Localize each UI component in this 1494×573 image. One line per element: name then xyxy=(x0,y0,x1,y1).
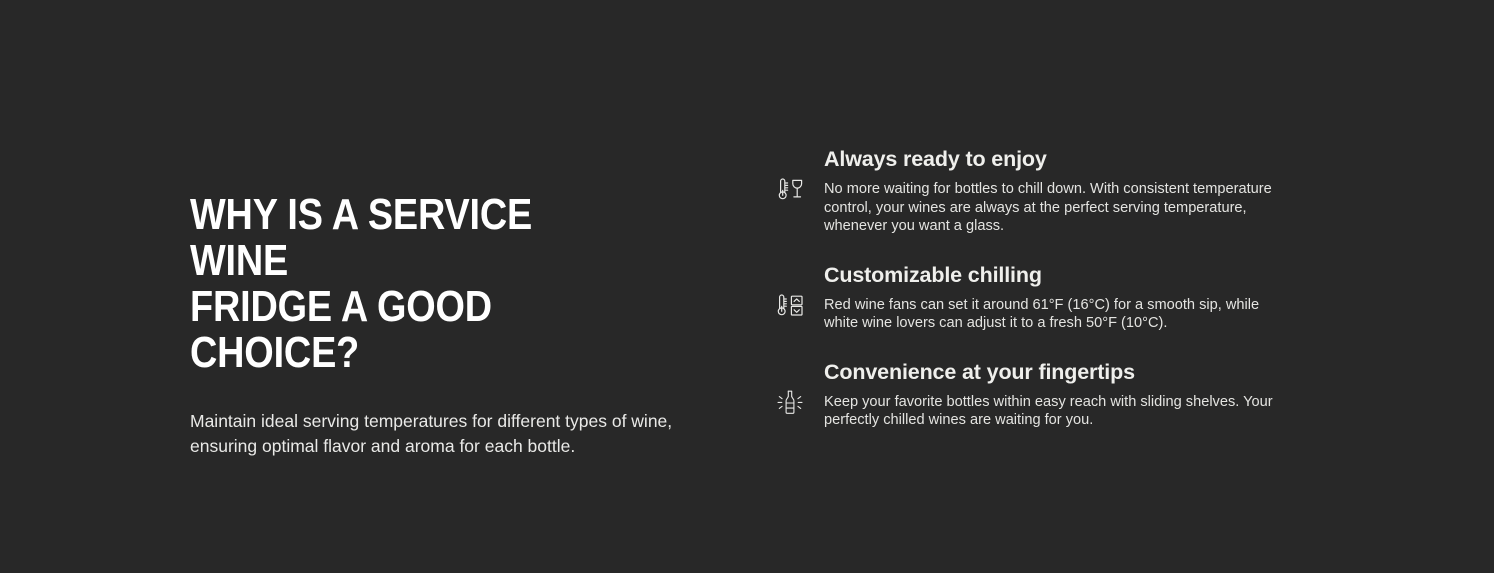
feature-description: Red wine fans can set it around 61°F (16… xyxy=(824,296,1288,333)
feature-item-always-ready: Always ready to enjoy No more waiting fo… xyxy=(768,146,1288,236)
page-title: WHY IS A SERVICE WINE FRIDGE A GOOD CHOI… xyxy=(190,192,629,376)
feature-item-customizable-chilling: Customizable chilling Red wine fans can … xyxy=(768,262,1288,333)
feature-title: Customizable chilling xyxy=(824,262,1288,288)
thermometer-wine-glass-icon xyxy=(768,172,812,208)
intro-description: Maintain ideal serving temperatures for … xyxy=(190,376,690,458)
thermometer-stepper-icon xyxy=(768,288,812,324)
feature-description: No more waiting for bottles to chill dow… xyxy=(824,180,1288,236)
feature-title: Convenience at your fingertips xyxy=(824,359,1288,385)
intro-block: WHY IS A SERVICE WINE FRIDGE A GOOD CHOI… xyxy=(190,192,700,458)
why-service-wine-fridge-section: WHY IS A SERVICE WINE FRIDGE A GOOD CHOI… xyxy=(0,0,1494,573)
feature-description: Keep your favorite bottles within easy r… xyxy=(824,393,1288,430)
feature-list: Always ready to enjoy No more waiting fo… xyxy=(768,146,1288,430)
shining-wine-bottle-icon xyxy=(768,385,812,421)
feature-title: Always ready to enjoy xyxy=(824,146,1288,172)
feature-item-convenience: Convenience at your fingertips Keep your… xyxy=(768,359,1288,430)
